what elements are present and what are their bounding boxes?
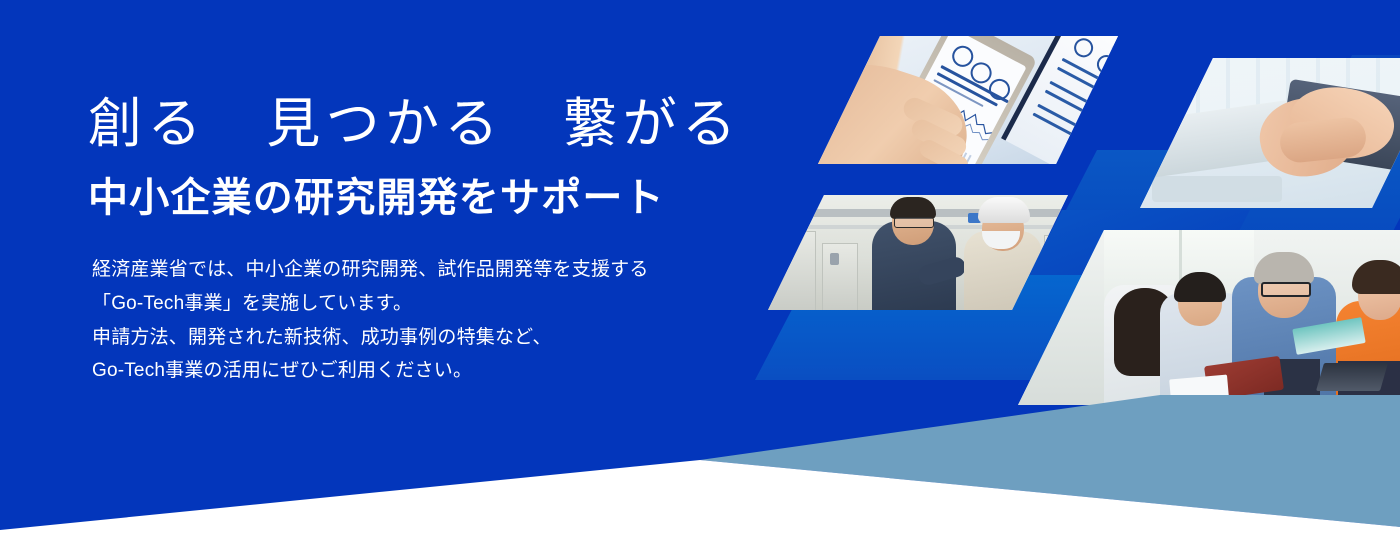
body-line-3: 申請方法、開発された新技術、成功事例の特集など、 — [92, 321, 649, 355]
eyeglasses-icon — [1261, 282, 1311, 297]
body-line-1: 経済産業省では、中小企業の研究開発、試作品開発等を支援する — [92, 253, 649, 287]
hero-banner: 創る 見つかる 繋がる 中小企業の研究開発をサポート 経済産業省では、中小企業の… — [0, 0, 1400, 540]
hero-subheadline: 中小企業の研究開発をサポート — [88, 175, 665, 221]
body-line-4: Go-Tech事業の活用にぜひご利用ください。 — [92, 354, 649, 388]
hero-headline: 創る 見つかる 繋がる — [88, 97, 741, 151]
hero-copy: 創る 見つかる 繋がる 中小企業の研究開発をサポート 経済産業省では、中小企業の… — [88, 0, 768, 540]
handshake-photo — [1140, 58, 1400, 208]
smartphone-analytics-photo — [818, 36, 1118, 164]
body-line-2: 「Go-Tech事業」を実施しています。 — [92, 287, 649, 321]
hero-body-text: 経済産業省では、中小企業の研究開発、試作品開発等を支援する 「Go-Tech事業… — [92, 253, 649, 388]
